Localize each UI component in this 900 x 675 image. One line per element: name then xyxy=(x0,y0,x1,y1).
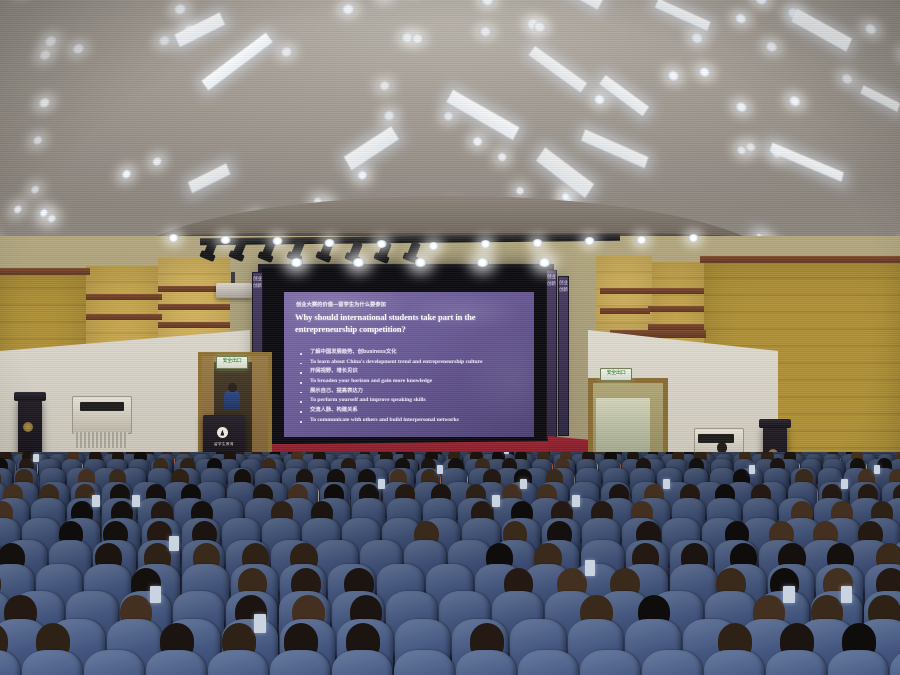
decorative-banner-right-2: 创业创新 xyxy=(558,276,569,436)
ceiling-downlight xyxy=(480,0,494,6)
ceiling-panel-light xyxy=(536,147,594,197)
soffit-downlight xyxy=(324,239,335,247)
ac-base-left xyxy=(74,432,128,448)
raised-phone xyxy=(169,536,179,551)
raised-phone xyxy=(520,479,527,490)
ceiling-panel-light xyxy=(188,163,231,194)
audience-seat[interactable] xyxy=(580,650,640,675)
wall-accent-12 xyxy=(600,288,650,294)
ceiling-downlight xyxy=(497,152,508,161)
ceiling-downlight xyxy=(121,170,133,179)
audience-seating xyxy=(0,452,900,675)
raised-phone xyxy=(783,586,795,603)
exit-sign-right: 安全出口 xyxy=(600,368,632,381)
ceiling-downlight xyxy=(472,137,484,146)
ceiling-downlight xyxy=(863,24,879,34)
audience-seat[interactable] xyxy=(518,650,578,675)
ceiling-downlight xyxy=(43,36,58,46)
raised-phone xyxy=(492,495,500,507)
podium-text: 留学生教育 xyxy=(209,442,239,447)
audience-seat[interactable] xyxy=(146,650,206,675)
speaker-head xyxy=(228,383,237,392)
slide-bullet-en: To communicate with others and build int… xyxy=(297,418,529,428)
ceiling-downlight xyxy=(172,4,187,15)
ceiling-downlight xyxy=(38,49,53,59)
raised-phone xyxy=(378,479,385,490)
ceiling-panel-light xyxy=(600,75,650,116)
wall-accent-13 xyxy=(600,308,650,314)
ceiling-downlight xyxy=(515,187,526,195)
ceiling-downlight xyxy=(442,111,454,121)
ceiling-downlight xyxy=(478,26,492,36)
ceiling-panel-light xyxy=(447,90,521,141)
audience-seat[interactable] xyxy=(0,650,20,675)
valance-downlight xyxy=(476,258,489,267)
ceiling-panel-light xyxy=(201,32,272,90)
valance-downlight xyxy=(290,258,303,267)
ceiling-downlight xyxy=(12,205,23,213)
wall-accent-10 xyxy=(648,306,704,312)
audience-seat[interactable] xyxy=(332,650,392,675)
valance-downlight xyxy=(538,258,551,267)
podium: 留学生教育 xyxy=(203,415,245,457)
audience-seat[interactable] xyxy=(766,650,826,675)
ceiling-panel-light xyxy=(655,0,711,31)
ceiling-downlight xyxy=(593,95,606,105)
ceiling-downlight xyxy=(840,74,855,84)
ceiling-downlight xyxy=(378,81,391,91)
ceiling-downlight xyxy=(764,42,779,52)
ceiling-downlight xyxy=(533,22,547,32)
raised-phone xyxy=(254,614,266,633)
ac-grill-left xyxy=(80,402,124,411)
audience-seat[interactable] xyxy=(890,650,900,675)
ceiling-downlight xyxy=(690,33,705,43)
audience-seat[interactable] xyxy=(22,650,82,675)
ceiling-projector xyxy=(216,283,252,298)
ceiling-downlight xyxy=(754,0,770,5)
audience-seat[interactable] xyxy=(84,650,144,675)
ceiling-downlight xyxy=(667,71,681,81)
ceiling-downlight xyxy=(279,46,293,56)
soffit-downlight xyxy=(220,236,231,244)
raised-phone xyxy=(572,495,580,507)
ceiling-panel-light xyxy=(529,46,587,92)
ceiling-downlight xyxy=(37,98,51,108)
soffit-downlight xyxy=(636,236,647,244)
slide-title: Why should international students take p… xyxy=(295,312,523,336)
raised-phone xyxy=(437,465,443,474)
ceiling-downlight xyxy=(698,67,712,77)
ceiling-panel-light xyxy=(344,126,399,170)
ac-grill-right xyxy=(698,434,734,443)
ceiling-downlight xyxy=(157,36,172,46)
seat-row xyxy=(0,650,900,675)
wall-accent-5 xyxy=(158,304,230,310)
ceiling-downlight xyxy=(733,13,748,23)
raised-phone xyxy=(504,452,508,454)
projection-screen: 创业大赛的价值—留学生为什么要参加 Why should internation… xyxy=(284,292,534,437)
ceiling-downlight xyxy=(411,34,425,44)
ceiling-panel-light xyxy=(567,0,603,10)
ceiling-downlight xyxy=(383,111,395,121)
raised-phone xyxy=(841,479,848,490)
ceiling-downlight xyxy=(341,4,355,15)
ceiling-panel-light xyxy=(791,9,852,52)
audience-seat[interactable] xyxy=(704,650,764,675)
raised-phone xyxy=(841,586,853,603)
soffit-downlight xyxy=(428,242,439,250)
ceiling-downlight xyxy=(46,215,57,223)
wall-accent-8 xyxy=(700,256,900,263)
raised-phone xyxy=(132,495,140,507)
decorative-banner-right-1: 创业创新 xyxy=(546,270,557,440)
ceiling-downlight xyxy=(378,0,392,1)
exit-sign-left: 安全出口 xyxy=(216,356,248,369)
soffit-downlight xyxy=(532,239,543,247)
vase-gold-motif xyxy=(23,422,33,432)
audience-seat[interactable] xyxy=(270,650,330,675)
valance-downlight xyxy=(352,258,365,267)
ceiling-downlight xyxy=(734,102,748,112)
ceiling-downlight xyxy=(151,158,163,167)
wall-accent-2 xyxy=(86,294,162,300)
raised-phone xyxy=(663,479,670,490)
ceiling-panel-light xyxy=(581,129,648,168)
screen-frame: 创业大赛的价值—留学生为什么要参加 Why should internation… xyxy=(262,268,550,444)
ceiling-downlight xyxy=(788,96,802,106)
ceiling-downlight xyxy=(31,136,44,145)
wall-panel-right-c xyxy=(596,256,652,334)
raised-phone xyxy=(150,586,162,603)
wall-accent-6 xyxy=(158,322,230,328)
raised-phone xyxy=(33,454,38,462)
podium-logo xyxy=(217,427,228,438)
audience-seat[interactable] xyxy=(828,650,888,675)
soffit-downlight xyxy=(168,234,179,242)
ceiling-downlight xyxy=(71,44,86,54)
slide-subtitle: 创业大赛的价值—留学生为什么要参加 xyxy=(296,303,522,309)
raised-phone xyxy=(585,560,596,576)
raised-phone xyxy=(874,465,880,474)
ceiling-panel-light xyxy=(770,142,844,181)
valance-downlight xyxy=(414,258,427,267)
raised-phone xyxy=(749,465,755,474)
soffit-downlight xyxy=(688,234,699,242)
wall-accent-9 xyxy=(648,288,704,294)
wall-accent-3 xyxy=(86,314,162,320)
audience-seat[interactable] xyxy=(642,650,702,675)
slide-bullet-list: 了解中国发展趋势、创business文化To learn about China… xyxy=(297,350,529,428)
audience-seat[interactable] xyxy=(456,650,516,675)
speaker-person xyxy=(224,390,240,410)
audience-seat[interactable] xyxy=(394,650,454,675)
ceiling-downlight xyxy=(357,171,368,180)
ceiling-downlight xyxy=(29,185,41,193)
raised-phone xyxy=(92,495,100,507)
wall-accent-1 xyxy=(0,268,90,275)
audience-seat[interactable] xyxy=(208,650,268,675)
auditorium-photo: 创业大赛的价值—留学生为什么要参加 Why should internation… xyxy=(0,0,900,675)
ceiling-panel-light xyxy=(175,13,225,47)
ceiling-panel-light xyxy=(860,85,900,112)
